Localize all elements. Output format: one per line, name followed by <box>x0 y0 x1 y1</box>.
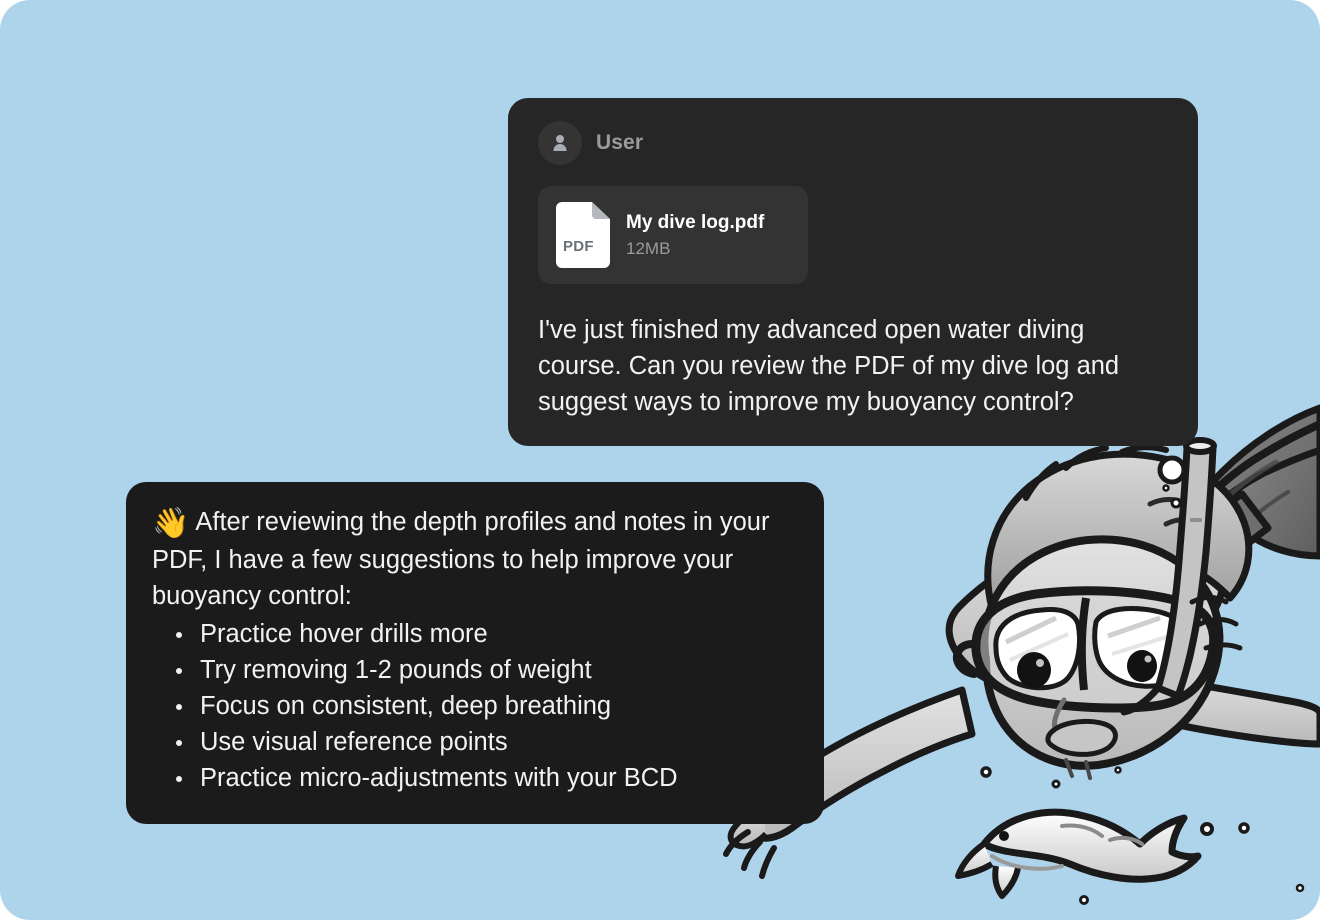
attachment-file-size: 12MB <box>626 239 764 259</box>
attachment-card[interactable]: PDF My dive log.pdf 12MB <box>538 186 808 284</box>
pdf-icon-label: PDF <box>563 238 594 255</box>
page-root: User PDF My dive log.pdf 12MB I've just … <box>0 0 1320 920</box>
avatar <box>538 121 582 165</box>
suggestion-list: Practice hover drills more Try removing … <box>152 616 798 796</box>
assistant-intro-text: After reviewing the depth profiles and n… <box>152 508 769 610</box>
user-name-label: User <box>596 131 643 155</box>
list-item: Practice micro-adjustments with your BCD <box>166 760 798 796</box>
list-item: Use visual reference points <box>166 724 798 760</box>
pdf-file-icon: PDF <box>556 202 610 268</box>
person-icon <box>548 131 572 155</box>
assistant-intro-block: 👋After reviewing the depth profiles and … <box>152 504 798 614</box>
assistant-message-card: 👋After reviewing the depth profiles and … <box>126 482 824 824</box>
attachment-meta: My dive log.pdf 12MB <box>626 212 764 259</box>
list-item: Try removing 1-2 pounds of weight <box>166 652 798 688</box>
waving-hand-emoji: 👋 <box>152 507 189 540</box>
attachment-file-name: My dive log.pdf <box>626 212 764 234</box>
user-message-card: User PDF My dive log.pdf 12MB I've just … <box>508 98 1198 446</box>
pdf-document-shape <box>556 202 610 268</box>
list-item: Focus on consistent, deep breathing <box>166 688 798 724</box>
user-message-text: I've just finished my advanced open wate… <box>538 312 1168 420</box>
list-item: Practice hover drills more <box>166 616 798 652</box>
user-message-header: User <box>508 120 1198 166</box>
